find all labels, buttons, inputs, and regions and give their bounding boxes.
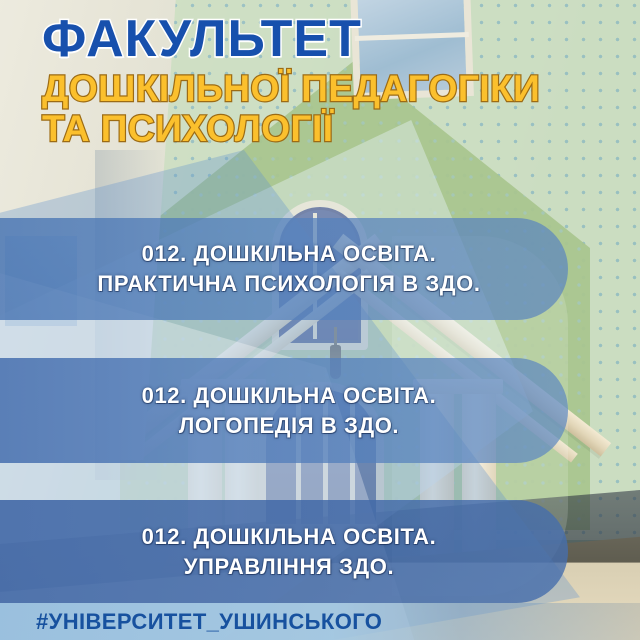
title-line-faculty: ФАКУЛЬТЕТ xyxy=(42,14,632,65)
program-label-3: 012. ДОШКІЛЬНА ОСВІТА. УПРАВЛІННЯ ЗДО. xyxy=(142,522,437,581)
program-band-3[interactable]: 012. ДОШКІЛЬНА ОСВІТА. УПРАВЛІННЯ ЗДО. xyxy=(0,500,568,603)
program-band-1[interactable]: 012. ДОШКІЛЬНА ОСВІТА. ПРАКТИЧНА ПСИХОЛО… xyxy=(0,218,568,320)
program-label-1: 012. ДОШКІЛЬНА ОСВІТА. ПРАКТИЧНА ПСИХОЛО… xyxy=(97,239,480,298)
title-line-department: ДОШКІЛЬНОЇ ПЕДАГОГІКИ ТА ПСИХОЛОГІЇ xyxy=(42,69,632,149)
hashtag-university[interactable]: #УНІВЕРСИТЕТ_УШИНСЬКОГО xyxy=(36,609,382,635)
footer-strip: #УНІВЕРСИТЕТ_УШИНСЬКОГО xyxy=(0,603,640,640)
poster: ФАКУЛЬТЕТ ДОШКІЛЬНОЇ ПЕДАГОГІКИ ТА ПСИХО… xyxy=(0,0,640,640)
program-band-2[interactable]: 012. ДОШКІЛЬНА ОСВІТА. ЛОГОПЕДІЯ В ЗДО. xyxy=(0,358,568,463)
program-label-2: 012. ДОШКІЛЬНА ОСВІТА. ЛОГОПЕДІЯ В ЗДО. xyxy=(142,381,437,440)
poster-title: ФАКУЛЬТЕТ ДОШКІЛЬНОЇ ПЕДАГОГІКИ ТА ПСИХО… xyxy=(42,14,632,149)
